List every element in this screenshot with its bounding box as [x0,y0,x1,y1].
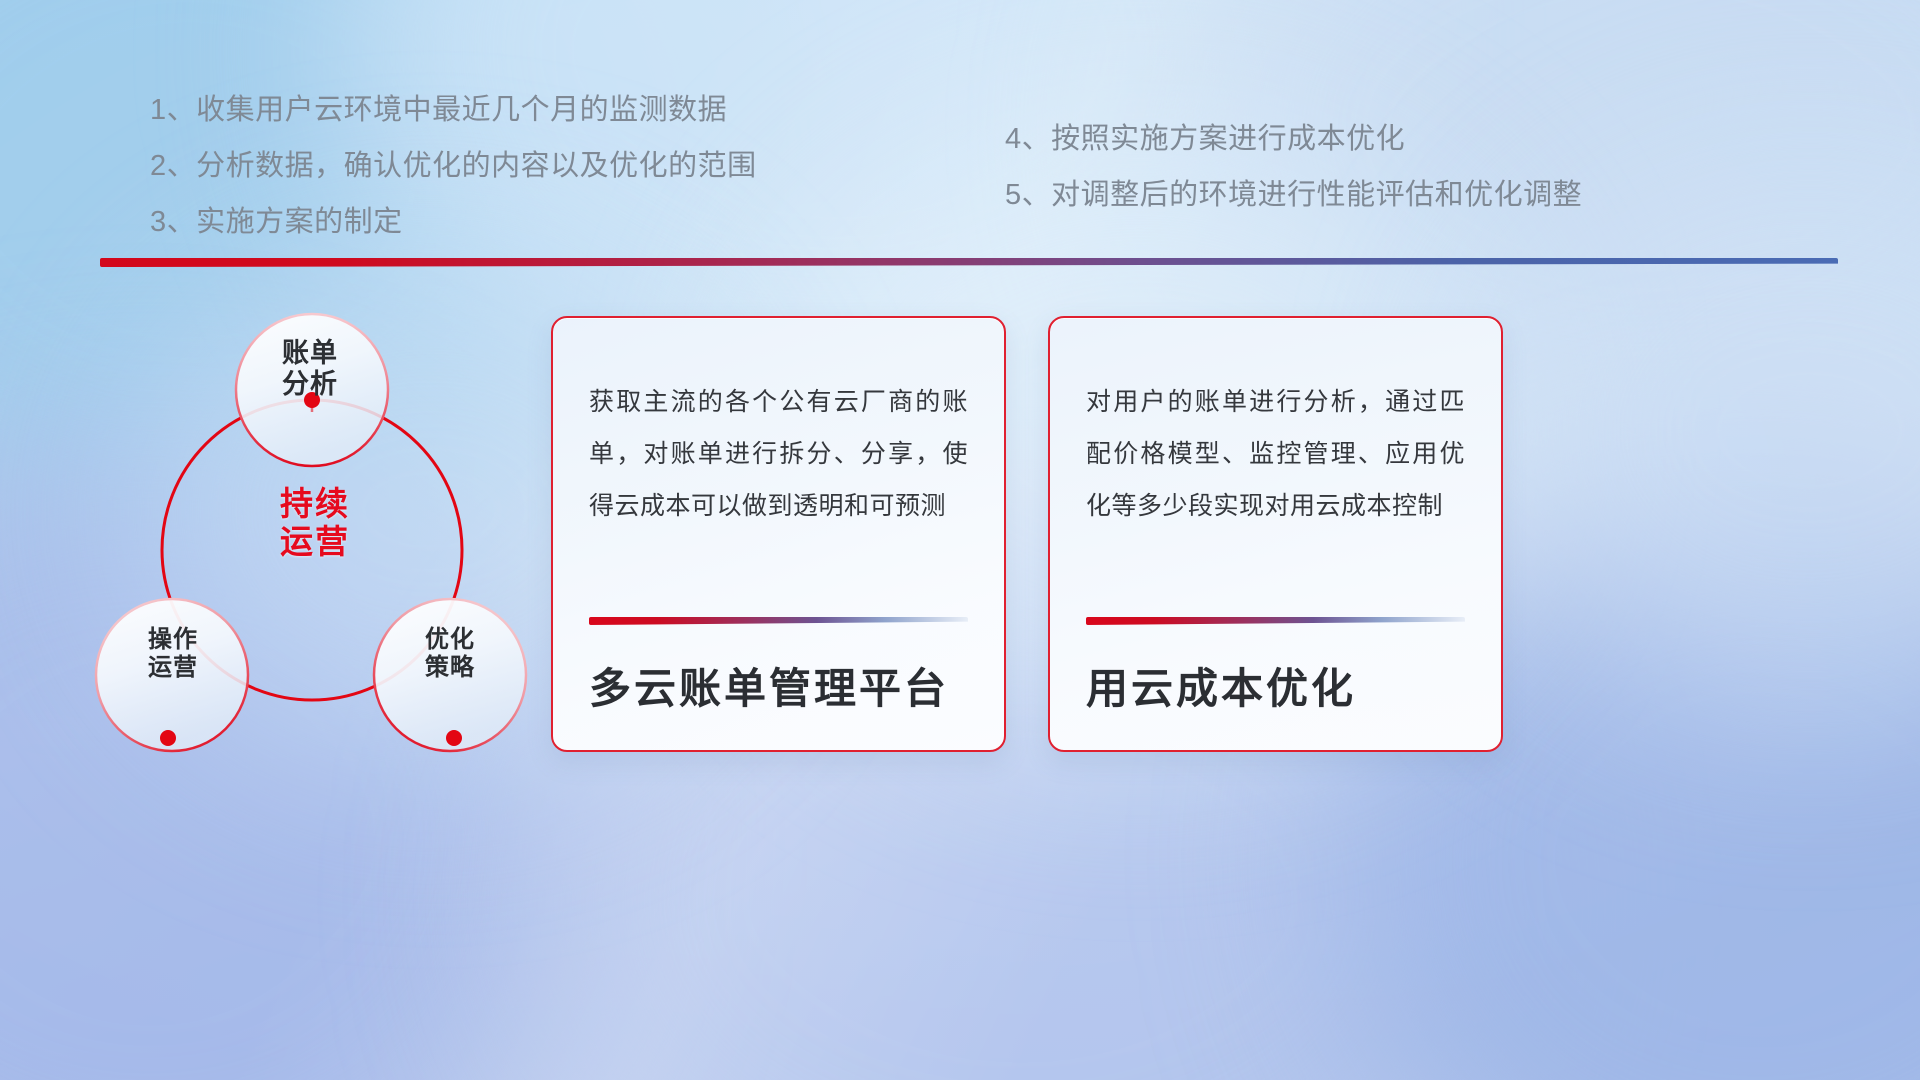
card-divider [1086,617,1465,625]
card-multi-cloud-billing[interactable]: 获取主流的各个公有云厂商的账单，对账单进行拆分、分享，使得云成本可以做到透明和可… [551,316,1006,752]
card-title: 用云成本优化 [1086,655,1465,716]
step-item-5: 5、对调整后的环境进行性能评估和优化调整 [1005,171,1582,213]
venn-node-dot [160,730,176,746]
venn-node-dot [446,730,462,746]
venn-label-continuous-operation: 持续 运营 [245,485,385,562]
section-divider [100,258,1838,267]
step-item-1: 1、收集用户云环境中最近几个月的监测数据 [150,86,727,128]
step-item-2: 2、分析数据，确认优化的内容以及优化的范围 [150,142,757,184]
steps-list: 1、收集用户云环境中最近几个月的监测数据 2、分析数据，确认优化的内容以及优化的… [0,86,1920,246]
card-divider [589,617,968,625]
divider-gradient-bar [100,258,1838,267]
card-body-text: 获取主流的各个公有云厂商的账单，对账单进行拆分、分享，使得云成本可以做到透明和可… [589,376,968,532]
venn-label-operations: 操作 运营 [108,626,238,682]
venn-label-optimization: 优化 策略 [385,626,515,682]
step-item-3: 3、实施方案的制定 [150,198,403,240]
venn-label-billing-analysis: 账单 分析 [245,338,375,401]
step-item-4: 4、按照实施方案进行成本优化 [1005,115,1405,157]
card-cloud-cost-optimization[interactable]: 对用户的账单进行分析，通过匹配价格模型、监控管理、应用优化等多少段实现对用云成本… [1048,316,1503,752]
card-title: 多云账单管理平台 [589,655,968,716]
venn-diagram: 账单 分析 操作 运营 优化 策略 持续 运营 [80,290,550,770]
card-body-text: 对用户的账单进行分析，通过匹配价格模型、监控管理、应用优化等多少段实现对用云成本… [1086,376,1465,532]
cards-container: 获取主流的各个公有云厂商的账单，对账单进行拆分、分享，使得云成本可以做到透明和可… [551,316,1791,752]
